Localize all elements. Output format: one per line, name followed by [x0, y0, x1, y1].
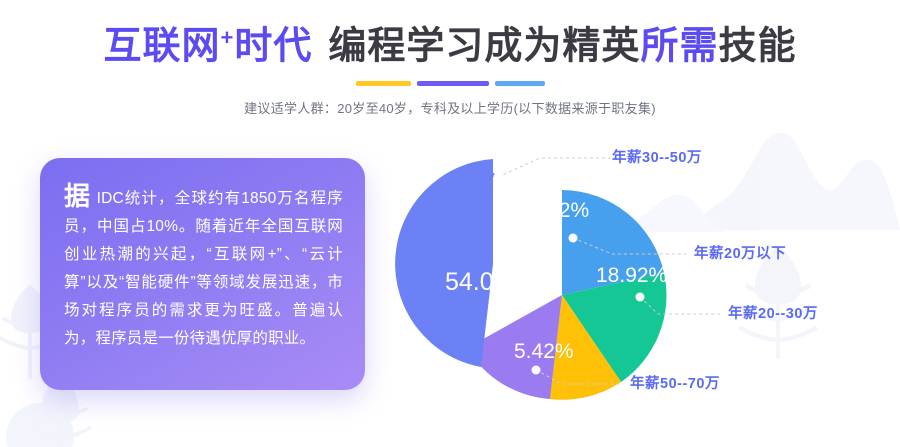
title-divider: [335, 81, 565, 86]
title-part-5: 技能: [718, 26, 796, 68]
divider-bar-yellow: [356, 81, 411, 86]
page-title: 互联网+时代编程学习成为精英所需技能: [0, 0, 900, 69]
pie-value-18-92: 18.92%: [596, 264, 667, 287]
divider-bar-blue: [495, 81, 545, 86]
title-part-2: 时代: [234, 26, 312, 68]
pie-callout-50-70: 年薪50--70万: [630, 372, 720, 393]
leader-dot-54: [494, 173, 503, 182]
pie-slice-54-05-exploded: [395, 159, 493, 367]
info-card-body: IDC统计，全球约有1850万名程序员，中国占10%。随着近年全国互联网创业热潮…: [64, 190, 343, 347]
title-part-4: 所需: [640, 26, 718, 68]
info-card: 据 IDC统计，全球约有1850万名程序员，中国占10%。随着近年全国互联网创业…: [40, 158, 365, 390]
pie-value-21-62: 21.62%: [518, 199, 589, 222]
title-part-1: 互联网: [104, 26, 221, 68]
leader-dot-5: [532, 366, 541, 375]
infographic-canvas: 互联网+时代编程学习成为精英所需技能 建议适学人群：20岁至40岁，专科及以上学…: [0, 0, 900, 447]
pie-value-54-05: 54.05%: [445, 268, 530, 296]
info-card-lead-char: 据: [64, 181, 91, 211]
pie-callout-30-50: 年薪30--50万: [612, 146, 702, 167]
title-part-3: 编程学习成为精英: [328, 26, 640, 68]
title-superscript-plus: +: [221, 25, 235, 50]
divider-bar-purple: [417, 81, 489, 86]
pie-value-5-42: 5.42%: [514, 340, 574, 363]
leader-dot-21: [569, 234, 578, 243]
header: 互联网+时代编程学习成为精英所需技能 建议适学人群：20岁至40岁，专科及以上学…: [0, 0, 900, 117]
pie-chart: 54.05% 21.62% 18.92% 5.42% 年薪30--50万 年薪2…: [390, 120, 900, 420]
pie-callout-under-20: 年薪20万以下: [694, 242, 786, 263]
leader-dot-18: [636, 293, 645, 302]
info-card-text: 据 IDC统计，全球约有1850万名程序员，中国占10%。随着近年全国互联网创业…: [64, 182, 343, 353]
page-subtitle: 建议适学人群：20岁至40岁，专科及以上学历(以下数据来源于职友集): [0, 98, 900, 117]
pie-callout-20-30: 年薪20--30万: [728, 302, 818, 323]
